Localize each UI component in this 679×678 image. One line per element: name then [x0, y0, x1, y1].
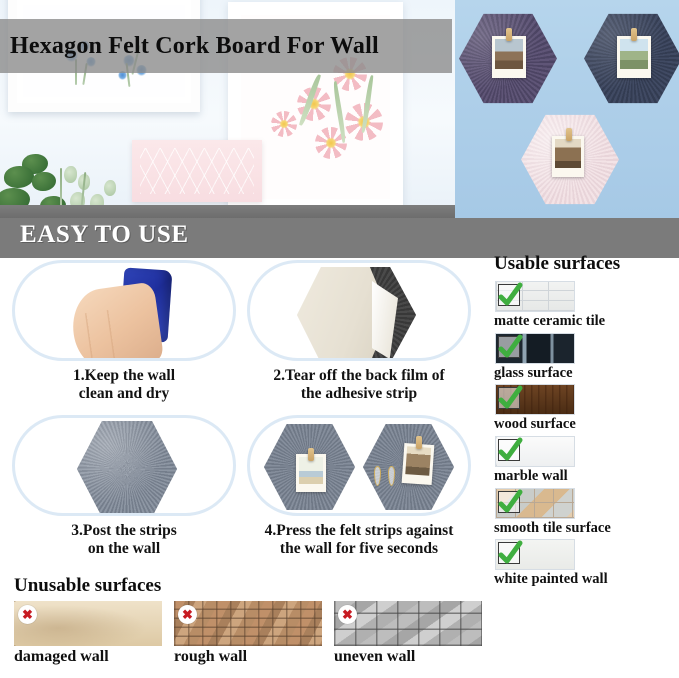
pink-flower — [271, 111, 297, 137]
usable-item-marble-wall: marble wall — [490, 436, 679, 485]
hero-scene: Hexagon Felt Cork Board For Wall — [0, 0, 679, 218]
surface-thumbnail — [495, 436, 575, 467]
photo-card — [552, 136, 584, 177]
surface-thumbnail — [495, 488, 575, 519]
surface-thumbnail — [495, 539, 575, 570]
unusable-item-rough-wall: ✖ rough wall — [174, 601, 322, 666]
clothespin-icon — [506, 28, 512, 41]
unusable-item-uneven-wall: ✖ uneven wall — [334, 601, 482, 666]
unusable-surfaces-title: Unusable surfaces — [14, 575, 484, 597]
usable-item-label: marble wall — [494, 468, 679, 485]
surface-thumbnail — [495, 281, 575, 312]
usable-item-label: matte ceramic tile — [494, 313, 679, 330]
usable-item-smooth-tile-surface: smooth tile surface — [490, 488, 679, 537]
check-icon — [498, 336, 520, 358]
usable-surfaces-panel: Usable surfaces matte ceramic tile glass… — [490, 253, 679, 591]
step-4-caption-line2: the wall for five seconds — [247, 540, 471, 558]
step-3-caption: 3.Post the strips on the wall — [12, 522, 236, 559]
steps-section: 1.Keep the wall clean and dry 2.Tear off… — [0, 258, 484, 574]
page-title: Hexagon Felt Cork Board For Wall — [0, 33, 379, 60]
photo-image — [620, 39, 648, 69]
clothespin-icon — [308, 448, 314, 461]
step-4-caption: 4.Press the felt strips against the wall… — [247, 522, 471, 559]
leaf — [64, 166, 77, 183]
photo-card — [617, 36, 651, 78]
unusable-item-label: rough wall — [174, 648, 322, 666]
leaf — [32, 172, 56, 191]
step-3-image — [12, 415, 236, 516]
check-icon — [498, 542, 520, 564]
hero-title-banner: Hexagon Felt Cork Board For Wall — [0, 19, 452, 73]
unusable-item-label: damaged wall — [14, 648, 162, 666]
unusable-items-row: ✖ damaged wall ✖ rough wall ✖ uneven wal… — [14, 601, 484, 666]
x-mark-icon: ✖ — [338, 605, 357, 624]
surface-thumbnail — [495, 333, 575, 364]
step-2: 2.Tear off the back film of the adhesive… — [247, 260, 471, 404]
usable-item-label: wood surface — [494, 416, 679, 433]
step-3-caption-line1: 3.Post the strips — [12, 522, 236, 540]
clothespin-icon — [566, 128, 572, 141]
unusable-item-label: uneven wall — [334, 648, 482, 666]
usable-item-label: glass surface — [494, 365, 679, 382]
check-icon — [498, 387, 520, 409]
usable-item-wood-surface: wood surface — [490, 384, 679, 433]
usable-item-matte-ceramic-tile: matte ceramic tile — [490, 281, 679, 330]
step-1-caption-line1: 1.Keep the wall — [12, 367, 236, 385]
photo-card — [492, 36, 526, 78]
photo-image — [555, 139, 581, 168]
step-1: 1.Keep the wall clean and dry — [12, 260, 236, 404]
step-2-caption-line2: the adhesive strip — [247, 385, 471, 403]
photo-card — [402, 443, 435, 485]
step-4-caption-line1: 4.Press the felt strips against — [247, 522, 471, 540]
surface-thumbnail: ✖ — [334, 601, 482, 646]
step-2-image — [247, 260, 471, 361]
unusable-surfaces-panel: Unusable surfaces ✖ damaged wall ✖ rough… — [14, 575, 484, 666]
x-mark-icon: ✖ — [18, 605, 37, 624]
usable-item-glass-surface: glass surface — [490, 333, 679, 382]
product-infographic: Hexagon Felt Cork Board For Wall EASY TO… — [0, 0, 679, 678]
surface-thumbnail: ✖ — [14, 601, 162, 646]
step-1-caption: 1.Keep the wall clean and dry — [12, 367, 236, 404]
check-icon — [498, 439, 520, 461]
x-mark-icon: ✖ — [178, 605, 197, 624]
photo-image — [495, 39, 523, 69]
usable-item-white-painted-wall: white painted wall — [490, 539, 679, 588]
leaf — [104, 180, 116, 196]
clothespin-icon — [631, 28, 637, 41]
clothespin-icon — [416, 436, 422, 449]
step-1-image — [12, 260, 236, 361]
surface-thumbnail — [495, 384, 575, 415]
gray-felt-hexagon — [77, 421, 177, 516]
photo-image — [405, 446, 431, 476]
step-3: 3.Post the strips on the wall — [12, 415, 236, 559]
usable-item-label: smooth tile surface — [494, 520, 679, 537]
easy-to-use-heading: EASY TO USE — [20, 221, 189, 249]
hand-illustration — [68, 281, 164, 361]
step-2-caption-line1: 2.Tear off the back film of — [247, 367, 471, 385]
step-4: 4.Press the felt strips against the wall… — [247, 415, 471, 559]
usable-surfaces-title: Usable surfaces — [494, 253, 679, 275]
photo-image — [299, 457, 323, 484]
surface-thumbnail: ✖ — [174, 601, 322, 646]
check-icon — [498, 491, 520, 513]
leaf — [4, 166, 34, 188]
usable-item-label: white painted wall — [494, 571, 679, 588]
shelf-edge — [0, 205, 455, 218]
check-icon — [498, 284, 520, 306]
step-1-caption-line2: clean and dry — [12, 385, 236, 403]
pink-gift-box — [132, 140, 262, 202]
step-2-caption: 2.Tear off the back film of the adhesive… — [247, 367, 471, 404]
step-4-image — [247, 415, 471, 516]
unusable-item-damaged-wall: ✖ damaged wall — [14, 601, 162, 666]
step-3-caption-line2: on the wall — [12, 540, 236, 558]
